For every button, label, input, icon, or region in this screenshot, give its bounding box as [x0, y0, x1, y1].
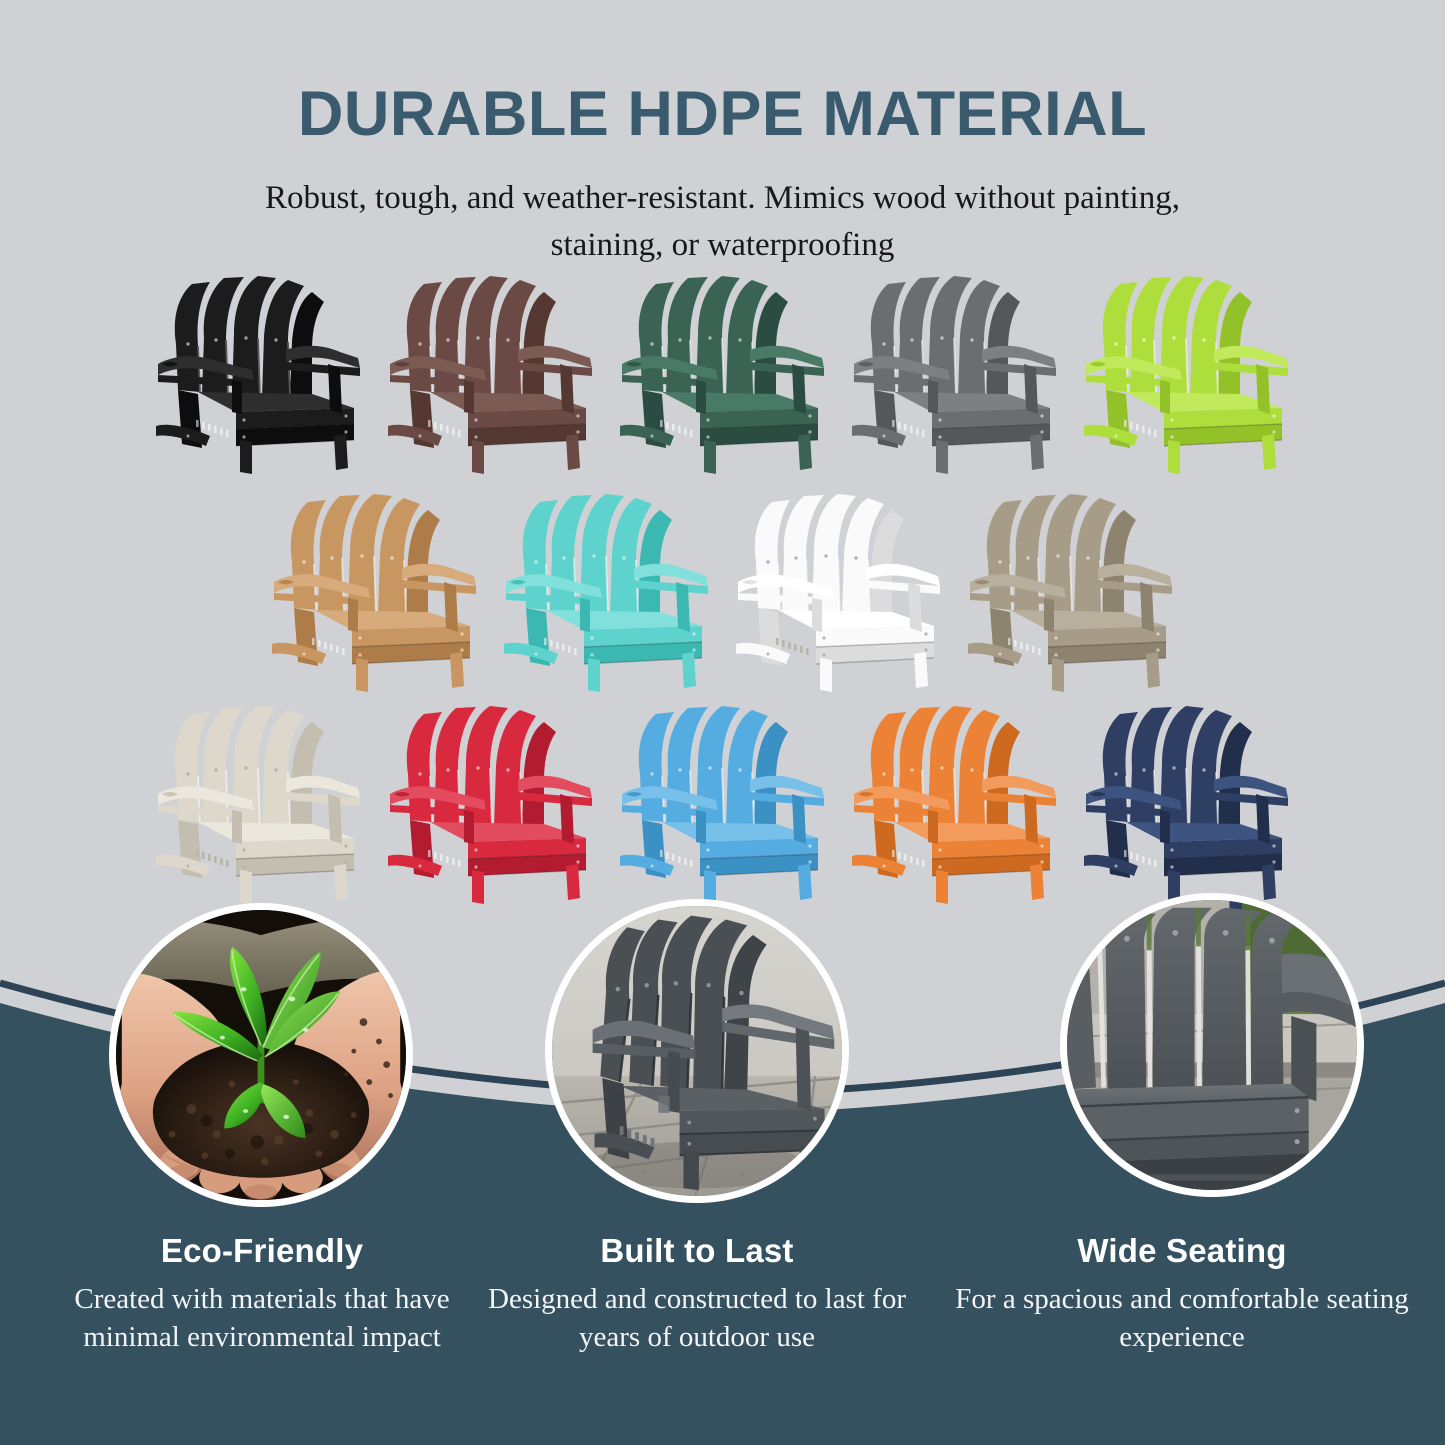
chair-swatch-light-blue[interactable]: [612, 702, 827, 907]
feature-image-wide-seating: [1060, 893, 1364, 1197]
infographic-canvas: DURABLE HDPE MATERIAL Robust, tough, and…: [0, 0, 1445, 1445]
chair-swatch-white[interactable]: [728, 490, 943, 695]
feature-image-built-to-last: [545, 899, 849, 1203]
chair-swatch-ivory[interactable]: [148, 702, 363, 907]
chair-swatch-dark-green[interactable]: [612, 272, 827, 477]
feature-image-eco-friendly: [109, 903, 413, 1207]
feature-title: Wide Seating: [947, 1232, 1417, 1270]
chair-swatch-brown[interactable]: [380, 272, 595, 477]
feature-description: For a spacious and comfortable seating e…: [947, 1281, 1417, 1356]
page-title: DURABLE HDPE MATERIAL: [0, 78, 1445, 150]
feature-caption-wide-seating: Wide Seating For a spacious and comforta…: [947, 1232, 1417, 1356]
chair-swatch-black[interactable]: [148, 272, 363, 477]
feature-title: Built to Last: [462, 1232, 932, 1270]
feature-description: Created with materials that have minimal…: [27, 1281, 497, 1356]
chair-swatch-gray[interactable]: [844, 272, 1059, 477]
chair-swatch-turquoise[interactable]: [496, 490, 711, 695]
feature-caption-eco-friendly: Eco-Friendly Created with materials that…: [27, 1232, 497, 1356]
feature-description: Designed and constructed to last for yea…: [462, 1281, 932, 1356]
chair-swatch-navy-blue[interactable]: [1076, 702, 1291, 907]
chair-swatch-weathered-wood[interactable]: [960, 490, 1175, 695]
chair-swatch-red[interactable]: [380, 702, 595, 907]
feature-title: Eco-Friendly: [27, 1232, 497, 1270]
page-subtitle: Robust, tough, and weather-resistant. Mi…: [218, 175, 1228, 269]
chair-swatch-lime-green[interactable]: [1076, 272, 1291, 477]
chair-color-grid: [0, 272, 1445, 912]
chair-swatch-orange[interactable]: [844, 702, 1059, 907]
chair-swatch-teak[interactable]: [264, 490, 479, 695]
feature-caption-built-to-last: Built to Last Designed and constructed t…: [462, 1232, 932, 1356]
